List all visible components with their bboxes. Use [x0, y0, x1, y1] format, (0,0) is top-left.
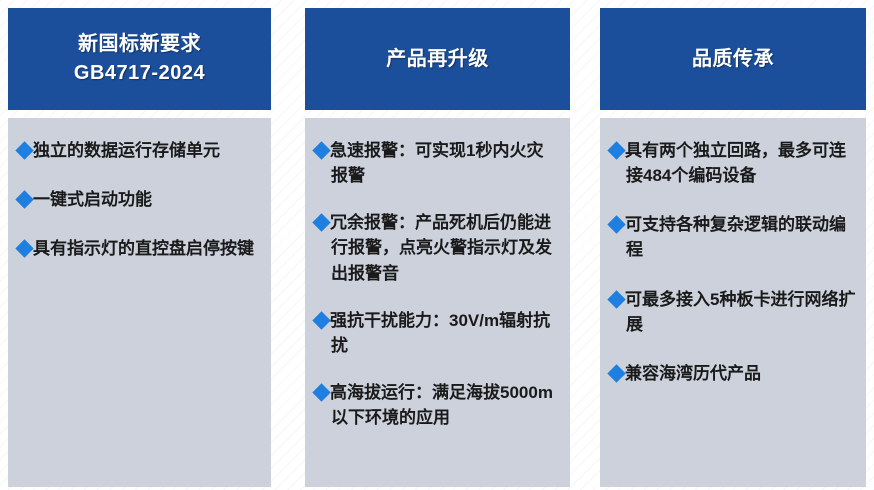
bullet-text: 可支持各种复杂逻辑的联动编程 — [626, 212, 856, 262]
bullet-item: 冗余报警：产品死机后仍能进行报警，点亮火警指示灯及发出报警音 — [315, 210, 560, 285]
bullet-item: 高海拔运行：满足海拔5000m以下环境的应用 — [315, 380, 560, 430]
bullet-text: 兼容海湾历代产品 — [626, 361, 856, 386]
bullet-text: 强抗干扰能力：30V/m辐射抗扰 — [331, 308, 560, 358]
column-header-quality-heritage: 品质传承 — [600, 8, 866, 110]
column-header-new-standard: 新国标新要求 GB4717-2024 — [8, 8, 271, 110]
diamond-icon — [607, 290, 625, 308]
diamond-icon — [312, 141, 330, 159]
column-header-product-upgrade: 产品再升级 — [305, 8, 570, 110]
bullet-text: 急速报警：可实现1秒内火灾报警 — [331, 138, 560, 188]
bullet-text: 高海拔运行：满足海拔5000m以下环境的应用 — [331, 380, 560, 430]
column-body-new-standard: 独立的数据运行存储单元 一键式启动功能 具有指示灯的直控盘启停按键 — [8, 118, 271, 487]
column-header-line: 品质传承 — [692, 45, 774, 74]
diamond-icon — [15, 141, 33, 159]
bullet-text: 冗余报警：产品死机后仍能进行报警，点亮火警指示灯及发出报警音 — [331, 210, 560, 285]
bullet-text: 具有两个独立回路，最多可连接484个编码设备 — [626, 138, 856, 188]
bullet-text: 可最多接入5种板卡进行网络扩展 — [626, 287, 856, 337]
diamond-icon — [607, 216, 625, 234]
column-header-line: 产品再升级 — [386, 45, 489, 74]
bullet-item: 可最多接入5种板卡进行网络扩展 — [610, 287, 856, 337]
diamond-icon — [15, 240, 33, 258]
three-column-board: 新国标新要求 GB4717-2024 独立的数据运行存储单元 一键式启动功能 具… — [0, 0, 874, 490]
bullet-text: 独立的数据运行存储单元 — [34, 138, 261, 163]
column-header-line: 新国标新要求 — [78, 30, 201, 59]
bullet-item: 具有指示灯的直控盘启停按键 — [18, 236, 261, 261]
bullet-item: 可支持各种复杂逻辑的联动编程 — [610, 212, 856, 262]
column-new-standard: 新国标新要求 GB4717-2024 独立的数据运行存储单元 一键式启动功能 具… — [8, 8, 271, 487]
diamond-icon — [312, 311, 330, 329]
column-product-upgrade: 产品再升级 急速报警：可实现1秒内火灾报警 冗余报警：产品死机后仍能进行报警，点… — [305, 8, 570, 487]
column-quality-heritage: 品质传承 具有两个独立回路，最多可连接484个编码设备 可支持各种复杂逻辑的联动… — [600, 8, 866, 487]
bullet-item: 急速报警：可实现1秒内火灾报警 — [315, 138, 560, 188]
bullet-text: 一键式启动功能 — [34, 187, 261, 212]
diamond-icon — [607, 364, 625, 382]
diamond-icon — [15, 190, 33, 208]
bullet-text: 具有指示灯的直控盘启停按键 — [34, 236, 261, 261]
bullet-item: 兼容海湾历代产品 — [610, 361, 856, 386]
diamond-icon — [312, 214, 330, 232]
bullet-item: 一键式启动功能 — [18, 187, 261, 212]
column-body-product-upgrade: 急速报警：可实现1秒内火灾报警 冗余报警：产品死机后仍能进行报警，点亮火警指示灯… — [305, 118, 570, 487]
diamond-icon — [607, 141, 625, 159]
bullet-item: 具有两个独立回路，最多可连接484个编码设备 — [610, 138, 856, 188]
bullet-item: 独立的数据运行存储单元 — [18, 138, 261, 163]
column-body-quality-heritage: 具有两个独立回路，最多可连接484个编码设备 可支持各种复杂逻辑的联动编程 可最… — [600, 118, 866, 487]
column-header-line: GB4717-2024 — [74, 59, 205, 88]
bullet-item: 强抗干扰能力：30V/m辐射抗扰 — [315, 308, 560, 358]
diamond-icon — [312, 383, 330, 401]
